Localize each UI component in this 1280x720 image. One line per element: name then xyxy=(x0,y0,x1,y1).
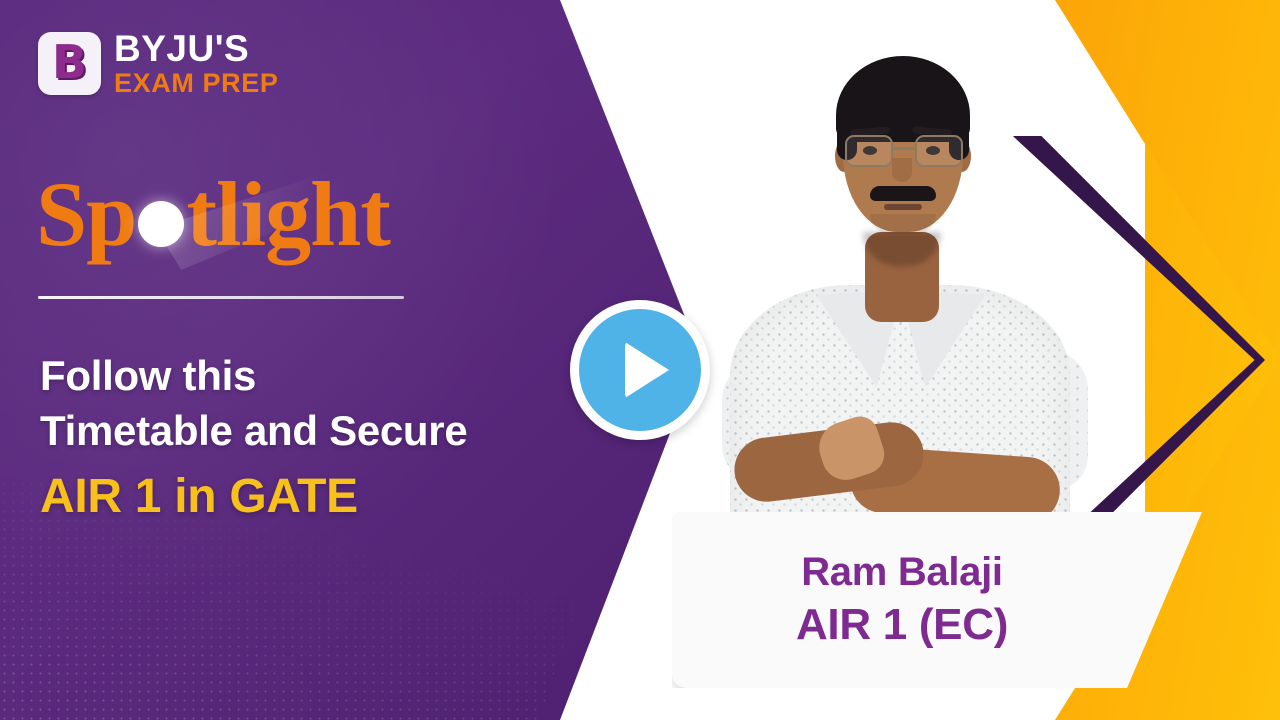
topper-name-card: Ram Balaji AIR 1 (EC) xyxy=(672,512,1202,688)
title-divider xyxy=(38,296,404,299)
topper-portrait xyxy=(700,0,1100,600)
byjus-b-logo-icon: B xyxy=(38,32,101,95)
headline-line-3-highlight: AIR 1 in GATE xyxy=(40,465,640,530)
logo-brand-subline: EXAM PREP xyxy=(114,70,278,97)
topper-rank: AIR 1 (EC) xyxy=(796,599,1008,651)
logo-brand-name: BYJU'S xyxy=(114,30,278,67)
spotlight-text-after: tlight xyxy=(186,163,390,265)
glasses-bridge xyxy=(893,147,915,150)
play-button[interactable] xyxy=(570,300,710,440)
headline-line-2: Timetable and Secure xyxy=(40,403,640,458)
spotlight-text-before: Sp xyxy=(36,163,136,265)
thumbnail-canvas: B BYJU'S EXAM PREP Sptlight Follow this … xyxy=(0,0,1280,720)
nose xyxy=(892,158,912,182)
spotlight-wordmark: Sptlight xyxy=(36,168,390,260)
lens-right xyxy=(915,135,963,167)
headline-block: Follow this Timetable and Secure AIR 1 i… xyxy=(40,348,640,530)
play-triangle-icon xyxy=(625,342,669,398)
lens-left xyxy=(845,135,893,167)
moustache xyxy=(870,186,936,201)
logo-wordmark: BYJU'S EXAM PREP xyxy=(114,30,278,97)
spotlight-wordmark-block: Sptlight xyxy=(36,168,390,260)
mouth xyxy=(884,204,922,210)
topper-name: Ram Balaji xyxy=(801,549,1003,596)
logo-letter: B xyxy=(52,39,87,85)
spotlight-dot-icon xyxy=(138,201,184,247)
headline-line-1: Follow this xyxy=(40,348,640,403)
chin-shadow xyxy=(870,214,936,234)
byjus-exam-prep-logo[interactable]: B BYJU'S EXAM PREP xyxy=(38,30,278,97)
